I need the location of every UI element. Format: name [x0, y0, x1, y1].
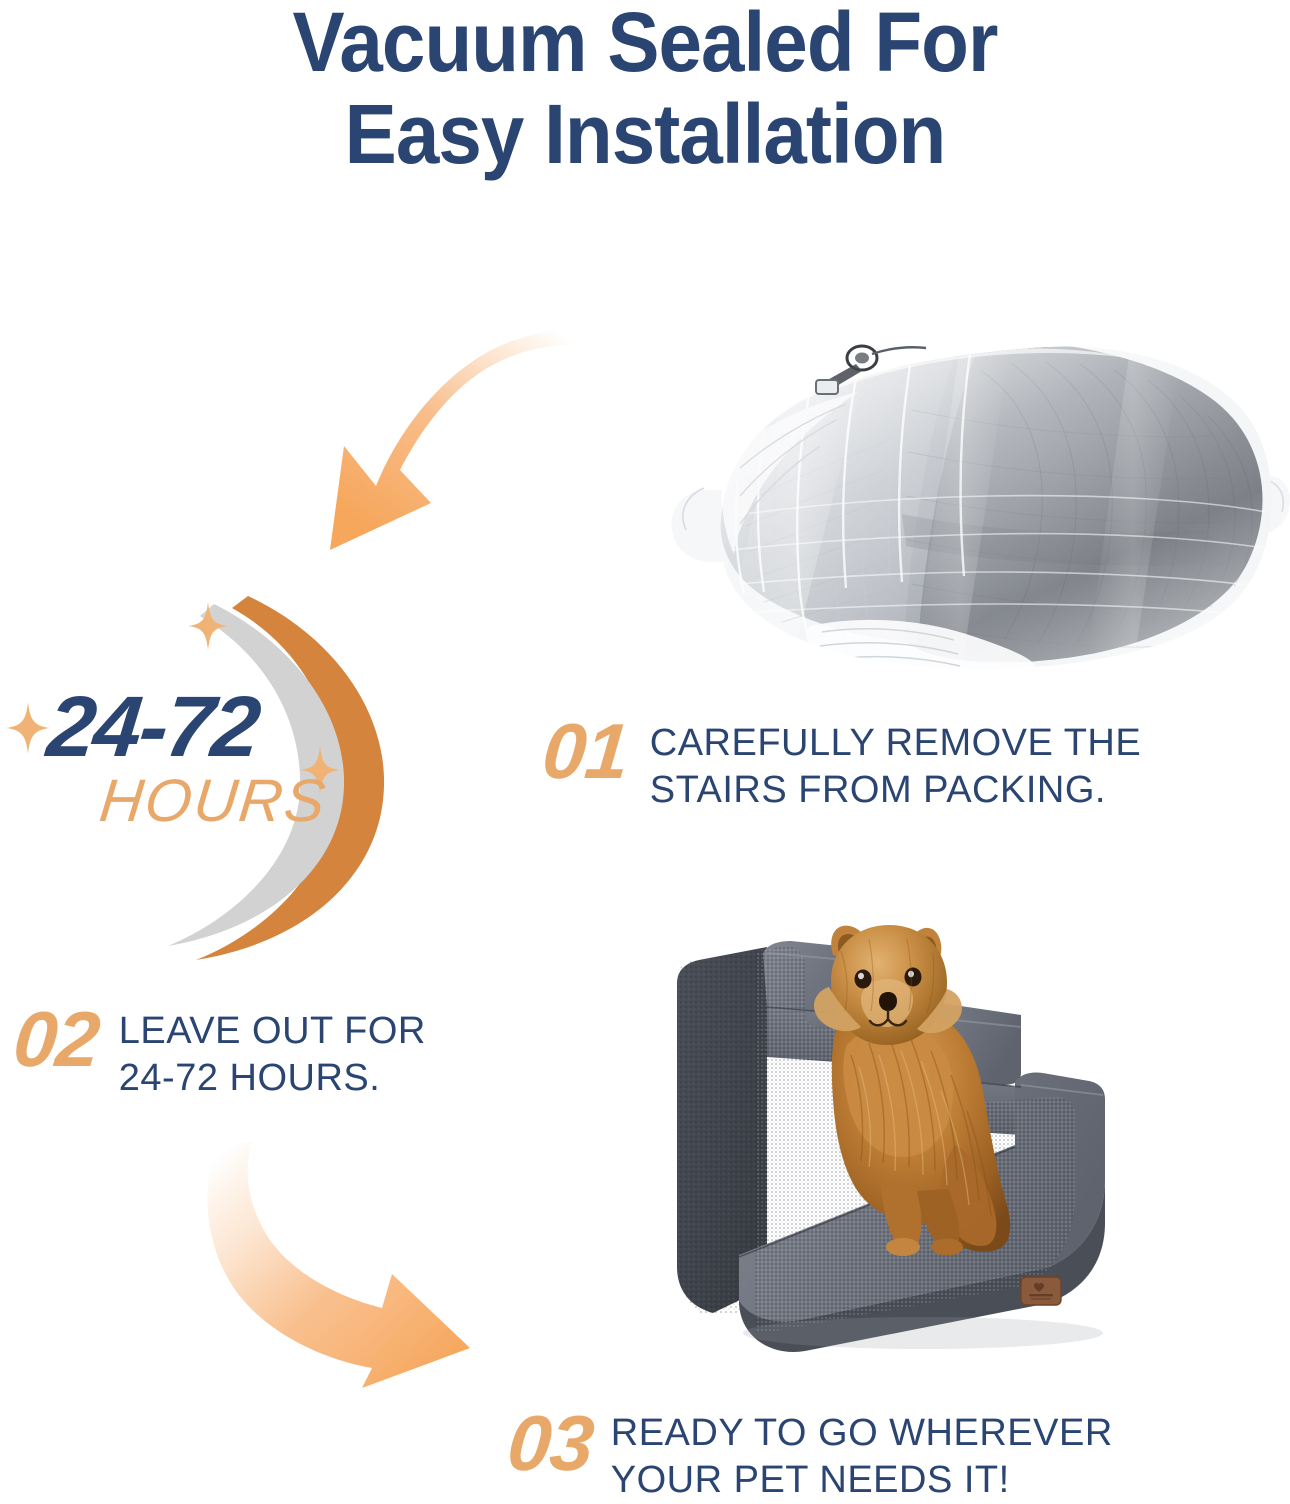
- badge-unit: HOURS: [96, 766, 330, 835]
- step-item-03: 03 READY TO GO WHEREVER YOUR PET NEEDS I…: [508, 1404, 1113, 1504]
- sparkle-icon: [188, 602, 228, 650]
- packaged-product-photo: [660, 300, 1290, 700]
- arrow-down-right-icon: [186, 1142, 516, 1392]
- step-text-03: READY TO GO WHEREVER YOUR PET NEEDS IT!: [611, 1404, 1113, 1504]
- step-text-01: CAREFULLY REMOVE THE STAIRS FROM PACKING…: [650, 712, 1141, 814]
- title-line-2: Easy Installation: [45, 88, 1245, 180]
- sparkle-icon: [6, 702, 50, 754]
- badge-number: 24-72: [43, 678, 263, 777]
- pet-stairs-photo: [655, 895, 1135, 1365]
- dog-head: [814, 925, 962, 1045]
- brand-logo-tag: [1021, 1277, 1061, 1305]
- page-title: Vacuum Sealed For Easy Installation: [45, 0, 1245, 180]
- step-item-01: 01 CAREFULLY REMOVE THE STAIRS FROM PACK…: [543, 712, 1141, 814]
- hours-badge: 24-72 HOURS: [0, 590, 440, 980]
- step-text-02: LEAVE OUT FOR 24-72 HOURS.: [119, 1000, 426, 1102]
- step-number-01: 01: [540, 712, 632, 790]
- infographic-root: Vacuum Sealed For Easy Installation: [0, 0, 1290, 1500]
- step-number-03: 03: [505, 1404, 597, 1482]
- step-item-02: 02 LEAVE OUT FOR 24-72 HOURS.: [14, 1000, 426, 1102]
- arrow-down-left-icon: [300, 318, 610, 578]
- title-line-1: Vacuum Sealed For: [45, 0, 1245, 88]
- step-number-02: 02: [11, 1000, 103, 1078]
